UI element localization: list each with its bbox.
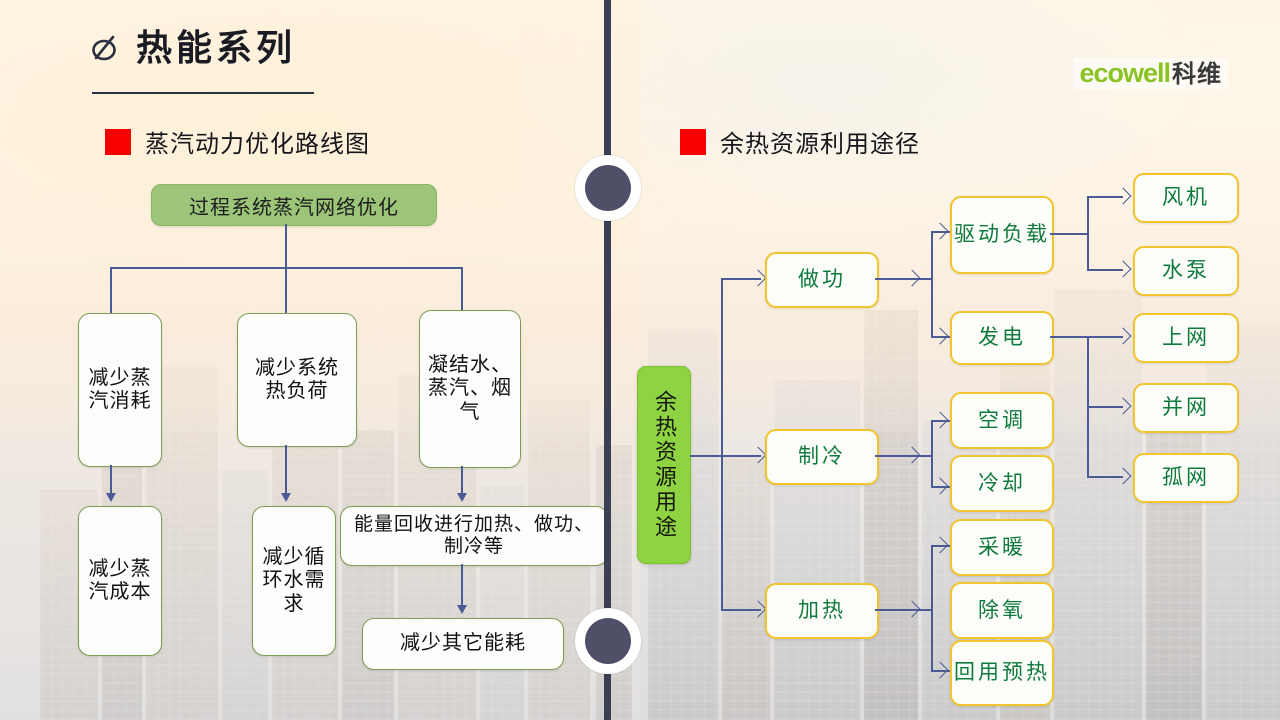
box-reduce-system-heat-load[interactable]: 减少系统热负荷: [237, 313, 357, 447]
box-power-generation[interactable]: 发电: [950, 311, 1054, 365]
box-space-heating[interactable]: 采暖: [950, 519, 1054, 576]
connector: [931, 545, 933, 671]
box-condensate-steam-fluegas[interactable]: 凝结水、蒸汽、烟气: [419, 310, 521, 468]
section-header-left: 蒸汽动力优化路线图: [105, 124, 370, 159]
title-underline: [92, 92, 314, 94]
arrow-down-icon: [281, 493, 291, 502]
page-header: 热能系列: [88, 30, 296, 66]
box-heating[interactable]: 加热: [765, 583, 879, 639]
arrow-down-icon: [106, 493, 116, 502]
connector: [1050, 233, 1088, 235]
connector: [690, 455, 722, 457]
section-label-right: 余热资源利用途径: [720, 124, 920, 159]
connector: [285, 224, 287, 268]
box-reduce-cooling-water[interactable]: 减少循环水需求: [252, 506, 336, 656]
box-refrigeration[interactable]: 制冷: [765, 429, 879, 485]
red-square-bullet-icon: [105, 129, 131, 155]
box-water-pump[interactable]: 水泵: [1133, 246, 1239, 296]
connector: [110, 267, 112, 313]
connector: [285, 445, 287, 497]
box-deaeration[interactable]: 除氧: [950, 582, 1054, 639]
divider-node-top: [575, 155, 641, 221]
left-root-box[interactable]: 过程系统蒸汽网络优化: [151, 184, 437, 226]
box-reduce-other-energy[interactable]: 减少其它能耗: [362, 618, 564, 670]
red-square-bullet-icon: [680, 129, 706, 155]
box-fan[interactable]: 风机: [1133, 173, 1239, 223]
arrow-down-icon: [457, 493, 467, 502]
connector: [931, 420, 933, 487]
divider-node-bottom: [575, 608, 641, 674]
box-reduce-steam-consumption[interactable]: 减少蒸汽消耗: [78, 313, 162, 467]
page-title: 热能系列: [136, 30, 296, 66]
box-drive-load[interactable]: 驱动负载: [950, 196, 1054, 274]
logo-brand-cn: 科维: [1172, 63, 1222, 87]
logo-brand-text: ecowell: [1079, 60, 1170, 87]
arrow-down-icon: [457, 605, 467, 614]
brand-logo: ecowell 科维: [1073, 58, 1228, 89]
center-vertical-label-text: 余热资源用途: [648, 390, 680, 540]
box-grid-export[interactable]: 上网: [1133, 313, 1239, 363]
connector: [1087, 196, 1089, 270]
box-cooling[interactable]: 冷却: [950, 455, 1054, 512]
section-label-left: 蒸汽动力优化路线图: [145, 124, 370, 159]
slide-canvas: 热能系列 ecowell 科维 蒸汽动力优化路线图 余热资源利用途径 过程系统蒸…: [0, 0, 1280, 720]
box-reduce-steam-cost[interactable]: 减少蒸汽成本: [78, 506, 162, 656]
box-air-conditioning[interactable]: 空调: [950, 392, 1054, 449]
box-island-grid[interactable]: 孤网: [1133, 453, 1239, 503]
center-vertical-label[interactable]: 余热资源用途: [637, 366, 691, 564]
box-reuse-preheat[interactable]: 回用预热: [950, 640, 1054, 706]
connector: [931, 231, 933, 337]
box-grid-tied[interactable]: 并网: [1133, 383, 1239, 433]
box-energy-recovery[interactable]: 能量回收进行加热、做功、制冷等: [340, 506, 608, 566]
section-header-right: 余热资源利用途径: [680, 124, 920, 159]
phi-slash-icon: [88, 31, 122, 65]
connector: [461, 564, 463, 608]
connector: [461, 267, 463, 313]
connector: [721, 278, 723, 610]
box-do-work[interactable]: 做功: [765, 252, 879, 308]
connector: [285, 267, 287, 313]
